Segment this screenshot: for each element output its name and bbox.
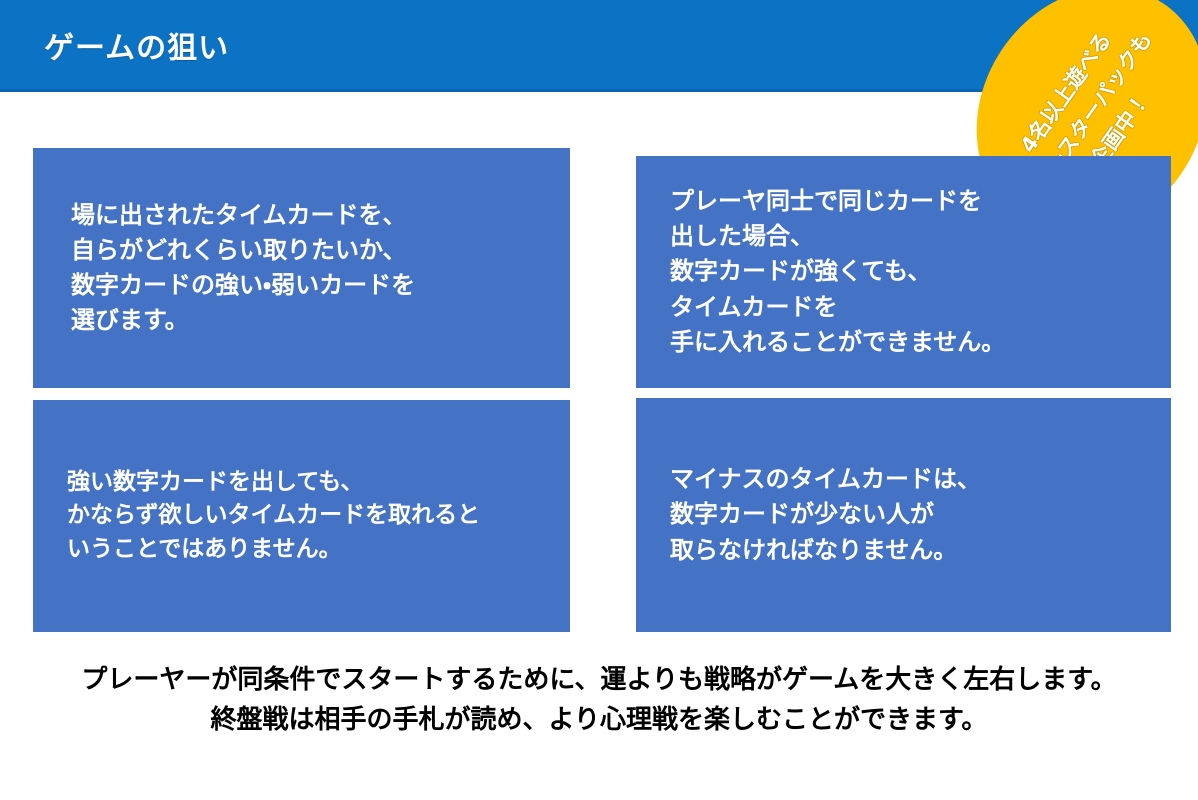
box-text-line: 手に入れることができません。 — [670, 325, 1171, 360]
page-title: ゲームの狙い — [44, 23, 229, 67]
box-text-line: 場に出されたタイムカードを、 — [71, 198, 570, 233]
box-text-line: 選びます。 — [71, 303, 570, 338]
box-text-line: 数字カードが強くても、 — [670, 254, 1171, 289]
box-text-line: 数字カードの強い・弱いカードを — [71, 268, 570, 303]
footer-line: プレーヤーが同条件でスタートするために、運よりも戦略がゲームを大きく左右します。 — [0, 660, 1198, 700]
slide-root: ゲームの狙い 4名以上遊べる ブースターパックも 企画中！ 場に出されたタイムカ… — [0, 0, 1198, 800]
content-box-3-text: 強い数字カードを出しても、 かならず欲しいタイムカードを取れると いうことではあ… — [33, 466, 570, 567]
box-text-line: 取らなければなりません。 — [670, 533, 1171, 568]
box-text-line: 数字カードが少ない人が — [670, 497, 1171, 532]
box-text-line: 自らがどれくらい取りたいか、 — [71, 233, 570, 268]
content-box-4-text: マイナスのタイムカードは、 数字カードが少ない人が 取らなければなりません。 — [636, 462, 1171, 567]
content-box-3: 強い数字カードを出しても、 かならず欲しいタイムカードを取れると いうことではあ… — [33, 400, 570, 632]
box-text-line: かならず欲しいタイムカードを取れると — [67, 499, 570, 533]
content-box-2-text: プレーヤ同士で同じカードを 出した場合、 数字カードが強くても、 タイムカードを… — [636, 184, 1171, 359]
box-text-line: タイムカードを — [670, 290, 1171, 325]
box-text-line: 強い数字カードを出しても、 — [67, 466, 570, 500]
footer-line: 終盤戦は相手の手札が読め、より心理戦を楽しむことができます。 — [0, 700, 1198, 740]
content-box-1: 場に出されたタイムカードを、 自らがどれくらい取りたいか、 数字カードの強い・弱… — [33, 148, 570, 388]
box-text-line: いうことではありません。 — [67, 533, 570, 567]
content-box-2: プレーヤ同士で同じカードを 出した場合、 数字カードが強くても、 タイムカードを… — [636, 156, 1171, 388]
box-text-line: マイナスのタイムカードは、 — [670, 462, 1171, 497]
content-box-4: マイナスのタイムカードは、 数字カードが少ない人が 取らなければなりません。 — [636, 398, 1171, 632]
footer-summary: プレーヤーが同条件でスタートするために、運よりも戦略がゲームを大きく左右します。… — [0, 660, 1198, 741]
box-text-line: プレーヤ同士で同じカードを — [670, 184, 1171, 219]
box-text-line: 出した場合、 — [670, 219, 1171, 254]
content-box-1-text: 場に出されたタイムカードを、 自らがどれくらい取りたいか、 数字カードの強い・弱… — [33, 198, 570, 338]
